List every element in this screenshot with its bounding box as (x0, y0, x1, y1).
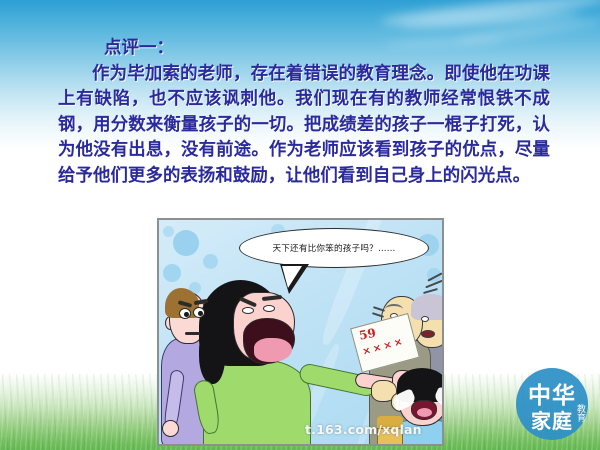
bubble-decoration (163, 226, 174, 237)
mother-eye-left (242, 307, 254, 314)
boy-pupil-left (184, 312, 189, 317)
slide-canvas: 点评一：作为毕加索的老师，存在着错误的教育理念。即使他在功课上有缺陷，也不应该讽… (0, 0, 600, 450)
mother-eye-right (263, 305, 275, 312)
exam-score: 59 (358, 326, 377, 343)
grandparent-right-mouth (421, 330, 435, 338)
commentary-text-block: 点评一：作为毕加索的老师，存在着错误的教育理念。即使他在功课上有缺陷，也不应该讽… (58, 36, 550, 189)
bubble-decoration (163, 264, 181, 282)
bubble-decoration (203, 254, 218, 269)
logo-line-3: 教育 (576, 406, 587, 424)
commentary-title: 点评一： (58, 36, 550, 62)
grandparent-right-eye (421, 316, 429, 322)
brand-logo: 中华 家庭 教育 (516, 368, 588, 440)
commentary-body: 作为毕加索的老师，存在着错误的教育理念。即使他在功课上有缺陷，也不应该讽刺他。我… (58, 62, 550, 190)
speech-bubble: 天下还有比你笨的孩子吗？…… (239, 228, 429, 268)
speech-bubble-text: 天下还有比你笨的孩子吗？…… (272, 242, 395, 254)
watermark: t.163.com/xqlan (305, 422, 422, 437)
boy-mouth (185, 332, 200, 335)
bubble-decoration (173, 230, 199, 256)
boy-pupil-right (198, 311, 203, 316)
cartoon-illustration: 天下还有比你笨的孩子吗？…… 59 ×××× (157, 218, 444, 446)
boy-hand (162, 420, 179, 437)
speech-bubble-tail-inner (282, 266, 302, 288)
child-tongue (417, 408, 432, 417)
